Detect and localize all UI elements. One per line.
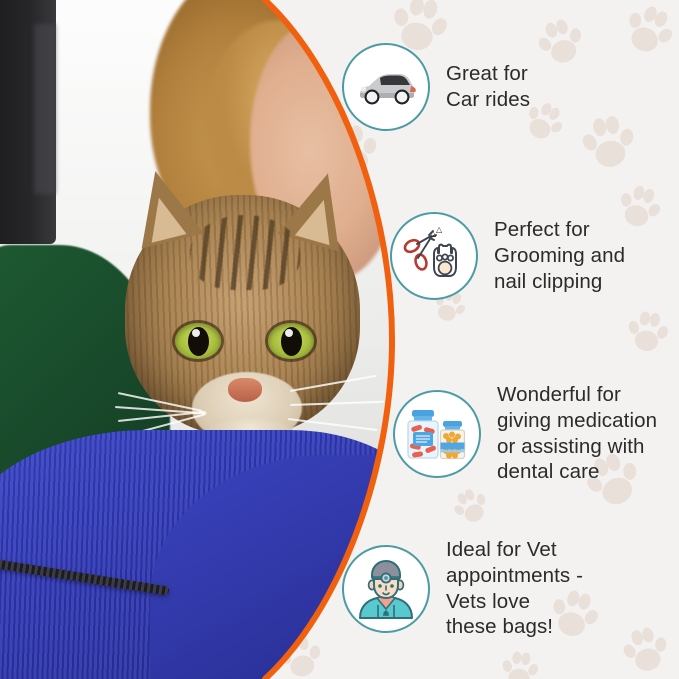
feature-icon-circle (342, 545, 430, 633)
feature-label: Wonderful for giving medication or assis… (497, 382, 657, 485)
svg-text:△: △ (436, 227, 443, 234)
feature-icon-circle (342, 43, 430, 131)
feature-item-grooming: △ △ Perfect for Grooming and nail clippi… (390, 212, 625, 300)
feature-label: Perfect for Grooming and nail clipping (494, 217, 625, 294)
medication-bottles-icon (405, 404, 469, 464)
car-icon (355, 67, 417, 107)
feature-item-medication: Wonderful for giving medication or assis… (393, 382, 657, 485)
grooming-scissors-paw-icon: △ △ (403, 227, 465, 285)
monitor-edge (0, 0, 56, 244)
feature-item-vet: Ideal for Vet appointments - Vets love t… (342, 537, 583, 640)
feature-list: Great for Car rides (322, 0, 679, 679)
feature-item-car-rides: Great for Car rides (342, 43, 530, 131)
cat-eye-glint-left (192, 329, 200, 337)
feature-label: Great for Car rides (446, 61, 530, 113)
cat-forehead-stripes (190, 215, 300, 290)
monitor-screen (34, 24, 56, 194)
cat-nose (228, 378, 262, 402)
feature-label: Ideal for Vet appointments - Vets love t… (446, 537, 583, 640)
product-feature-infographic: Great for Car rides (0, 0, 679, 679)
veterinarian-icon (356, 558, 416, 620)
cat-eye-glint-right (285, 329, 293, 337)
feature-icon-circle: △ △ (390, 212, 478, 300)
feature-icon-circle (393, 390, 481, 478)
